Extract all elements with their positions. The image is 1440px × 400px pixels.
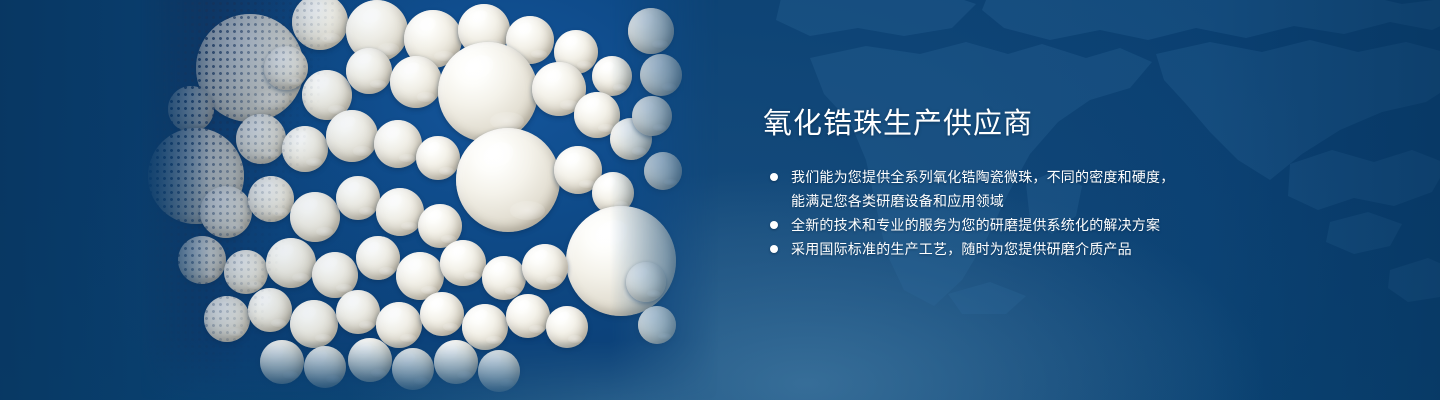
- list-item: 采用国际标准的生产工艺，随时为您提供研磨介质产品: [763, 237, 1233, 261]
- bullet-text-line1: 采用国际标准的生产工艺，随时为您提供研磨介质产品: [791, 241, 1132, 257]
- bullet-dot-icon: [770, 221, 778, 229]
- banner-copy: 氧化锆珠生产供应商 我们能为您提供全系列氧化锆陶瓷微珠，不同的密度和硬度， 能满…: [763, 104, 1233, 261]
- bullet-text-line1: 我们能为您提供全系列氧化锆陶瓷微珠，不同的密度和硬度，: [791, 169, 1174, 185]
- bullet-dot-icon: [770, 173, 778, 181]
- banner-headline: 氧化锆珠生产供应商: [763, 104, 1233, 144]
- hero-banner: 氧化锆珠生产供应商 我们能为您提供全系列氧化锆陶瓷微珠，不同的密度和硬度， 能满…: [0, 0, 1440, 400]
- bullet-dot-icon: [770, 245, 778, 253]
- list-item: 全新的技术和专业的服务为您的研磨提供系统化的解决方案: [763, 213, 1233, 237]
- benefit-list: 我们能为您提供全系列氧化锆陶瓷微珠，不同的密度和硬度， 能满足您各类研磨设备和应…: [763, 165, 1233, 261]
- bullet-text-line1: 全新的技术和专业的服务为您的研磨提供系统化的解决方案: [791, 217, 1160, 233]
- bullet-text-line2: 能满足您各类研磨设备和应用领域: [791, 189, 1233, 213]
- list-item: 我们能为您提供全系列氧化锆陶瓷微珠，不同的密度和硬度， 能满足您各类研磨设备和应…: [763, 165, 1233, 213]
